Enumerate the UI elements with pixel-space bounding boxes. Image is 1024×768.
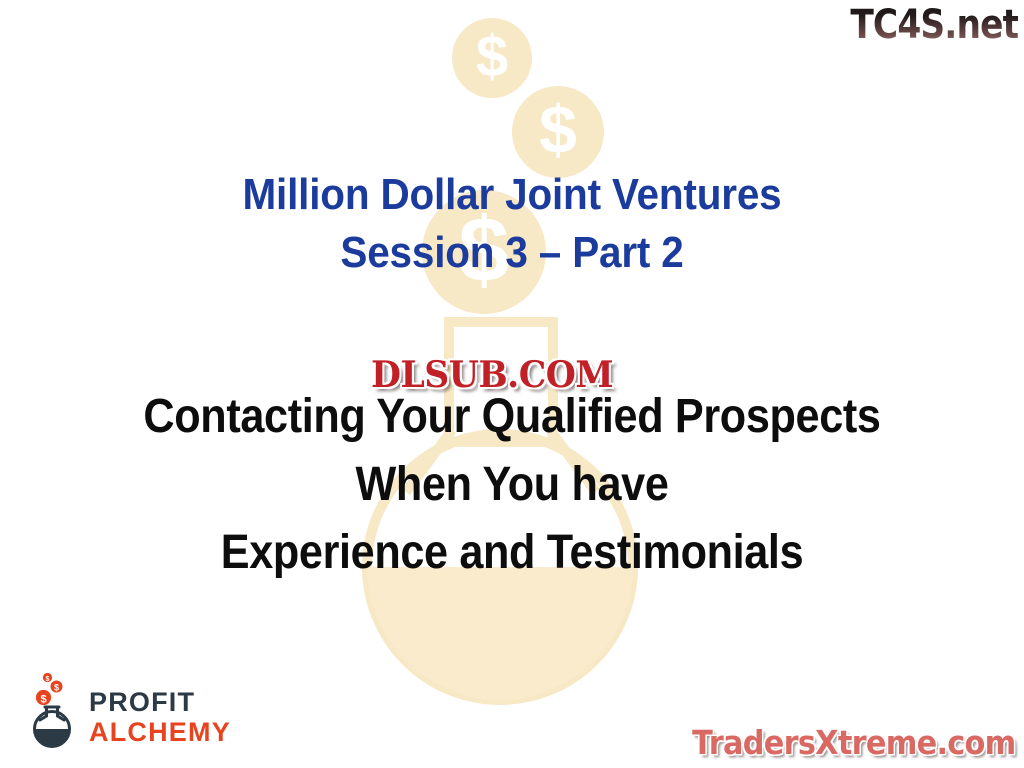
dollar-bubble-small: $ [43, 673, 52, 683]
svg-text:$: $ [46, 676, 50, 683]
svg-text:$: $ [476, 24, 508, 89]
title-line-2: Session 3 – Part 2 [41, 224, 983, 282]
flask-liquid [34, 729, 70, 749]
dlsub-watermark: DLSUB.COM [371, 354, 613, 396]
subtitle-line-3: Experience and Testimonials [51, 519, 973, 587]
svg-text:$: $ [539, 92, 577, 168]
flask-icon: $ $ $ [26, 672, 82, 750]
profit-alchemy-logo: $ $ $ PROFIT ALCHEMY [26, 672, 231, 750]
page-title: Million Dollar Joint Ventures Session 3 … [0, 166, 1024, 282]
logo-wordmark: PROFIT ALCHEMY [89, 689, 231, 746]
svg-text:$: $ [54, 683, 59, 693]
bg-coin-bubble-2: $ [512, 86, 604, 178]
bg-coin-bubble-1: $ [452, 18, 532, 98]
svg-text:$: $ [40, 694, 46, 706]
title-line-1: Million Dollar Joint Ventures [41, 166, 983, 224]
tc4s-watermark: TC4S.net [850, 2, 1018, 48]
page-subtitle: Contacting Your Qualified Prospects When… [0, 383, 1024, 587]
tradersxtreme-watermark: TradersXtreme.com [693, 724, 1016, 762]
logo-word-profit: PROFIT [89, 689, 231, 716]
slide-canvas: $ $ $ Million Doll [0, 0, 1024, 768]
dollar-bubble-medium: $ [51, 681, 63, 693]
subtitle-line-2: When You have [51, 451, 973, 519]
logo-word-alchemy: ALCHEMY [89, 719, 231, 746]
dollar-bubble-large: $ [36, 690, 51, 706]
bg-flask-liquid [360, 567, 645, 712]
